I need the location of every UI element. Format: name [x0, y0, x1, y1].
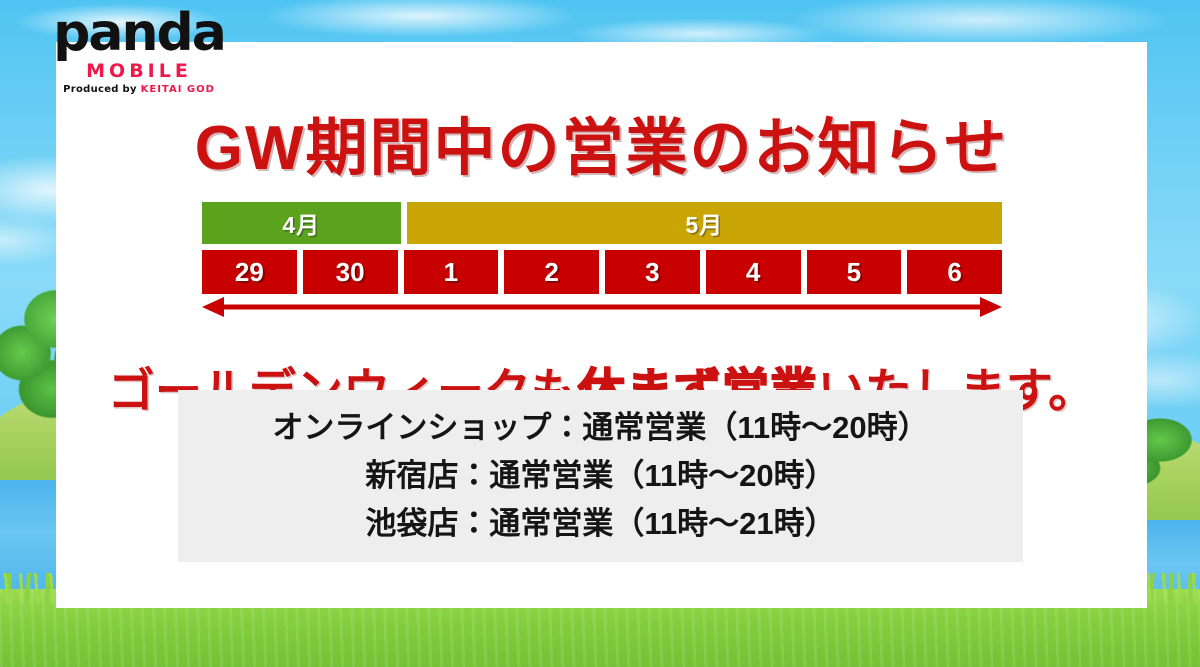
calendar-day-cell: 30 — [303, 250, 398, 294]
announcement-card: panda MOBILE Produced by KEITAI GOD GW期間… — [56, 42, 1147, 608]
calendar-month-april: 4月 — [202, 202, 401, 244]
page-title: GW期間中の営業のお知らせ — [56, 97, 1147, 187]
calendar-month-row: 4月 5月 — [202, 202, 1002, 244]
calendar-day-cell: 4 — [706, 250, 801, 294]
logo-tagline: Produced by KEITAI GOD — [24, 85, 254, 95]
calendar-day-cell: 6 — [907, 250, 1002, 294]
store-hours-line: 新宿店：通常営業（11時〜20時） — [365, 454, 835, 498]
logo-mobile-text: MOBILE — [24, 62, 254, 81]
gw-calendar: 4月 5月 29 30 1 2 3 4 5 6 — [202, 202, 1002, 294]
logo-tagline-brand: KEITAI GOD — [141, 84, 215, 95]
calendar-day-cell: 29 — [202, 250, 297, 294]
panda-mobile-logo: panda MOBILE Produced by KEITAI GOD — [24, 7, 254, 95]
logo-wordmark: panda — [24, 7, 254, 59]
calendar-day-cell: 2 — [504, 250, 599, 294]
store-hours-line: オンラインショップ：通常営業（11時〜20時） — [272, 406, 928, 450]
calendar-day-cell: 3 — [605, 250, 700, 294]
calendar-month-may: 5月 — [407, 202, 1003, 244]
date-range-arrow — [202, 294, 1002, 320]
calendar-day-row: 29 30 1 2 3 4 5 6 — [202, 250, 1002, 294]
store-hours-box: オンラインショップ：通常営業（11時〜20時） 新宿店：通常営業（11時〜20時… — [178, 390, 1023, 562]
double-arrow-icon — [202, 294, 1002, 320]
calendar-day-cell: 1 — [404, 250, 499, 294]
logo-tagline-prefix: Produced by — [63, 84, 141, 95]
store-hours-line: 池袋店：通常営業（11時〜21時） — [365, 502, 835, 546]
poster-stage: panda MOBILE Produced by KEITAI GOD GW期間… — [0, 0, 1200, 667]
calendar-day-cell: 5 — [807, 250, 902, 294]
